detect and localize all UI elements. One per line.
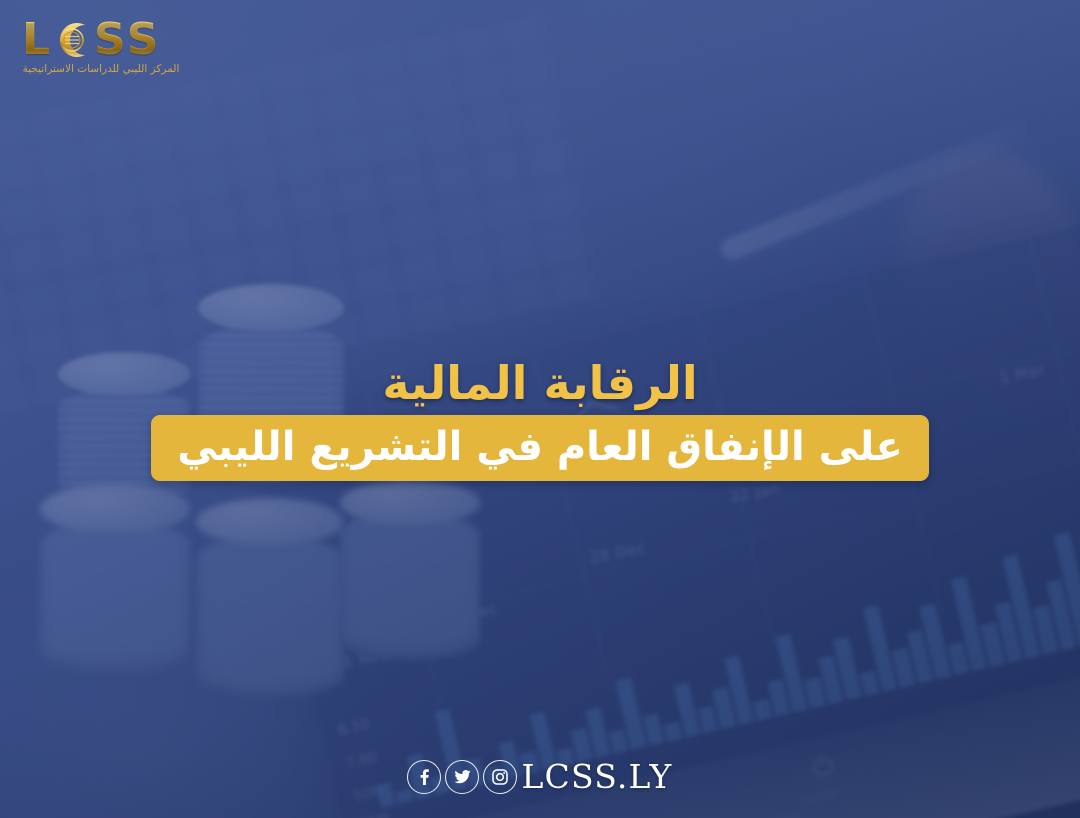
social-links [407,760,517,794]
circular-seal-emblem-icon [51,18,93,62]
facebook-icon[interactable] [407,760,441,794]
logo-letter-l: L [22,18,50,62]
title-banner-wrap: على الإنفاق العام في التشريع الليبي [0,415,1080,481]
site-url[interactable]: LCSS.LY [521,757,672,796]
instagram-icon[interactable] [483,760,517,794]
poster-title-line-2: على الإنفاق العام في التشريع الليبي [151,415,929,481]
title-block: الرقابة المالية على الإنفاق العام في الت… [0,358,1080,481]
poster-title-line-1: الرقابة المالية [0,358,1080,409]
logo-wordmark: L [16,18,186,62]
lcss-logo[interactable]: L [16,18,186,75]
poster-canvas: 6 Nov 1 Dec 28 Dec 22 Jan 16 Feb 1 Mar 5… [0,0,1080,818]
logo-letter-s1: S [94,18,126,62]
logo-subtitle: المركز الليبي للدراسات الاستراتيجية [16,63,186,75]
twitter-icon[interactable] [445,760,479,794]
logo-letter-s2: S [127,18,159,62]
footer-bar: LCSS.LY [0,757,1080,796]
